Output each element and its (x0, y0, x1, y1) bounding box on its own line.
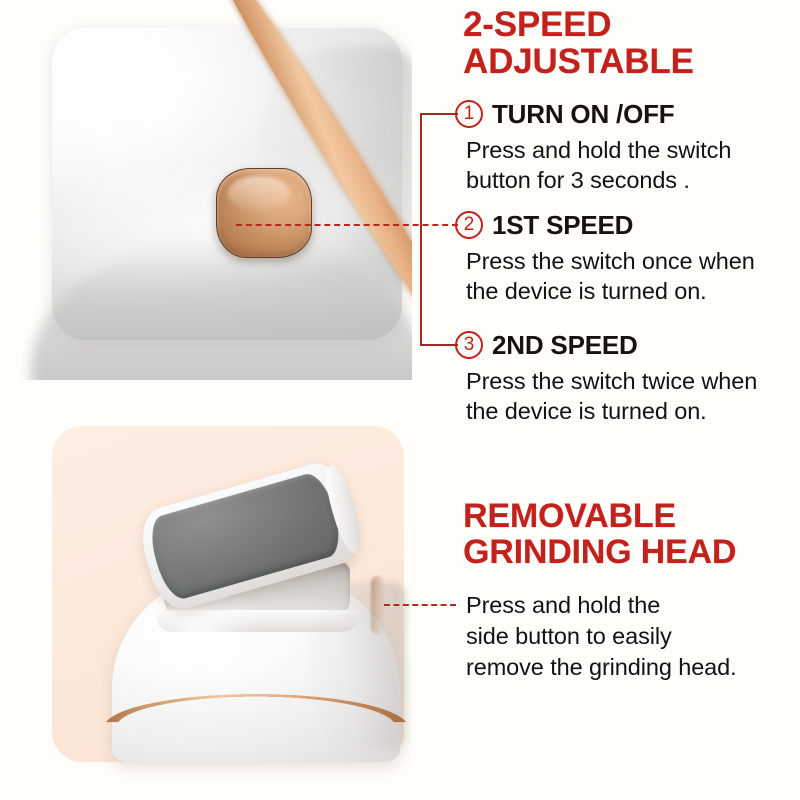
base-right-shadow (308, 582, 406, 751)
step-2-body-line-2: the device is turned on. (466, 276, 800, 306)
step-3-body: Press the switch twice when the device i… (466, 366, 800, 426)
peach-backdrop (52, 426, 404, 762)
step-2-body: Press the switch once when the device is… (466, 246, 800, 306)
step-1st-speed: 2 1ST SPEED Press the switch once when t… (455, 209, 800, 306)
step-2-title: 1ST SPEED (492, 210, 633, 241)
step-3-body-line-1: Press the switch twice when (466, 366, 800, 396)
speed-section-heading: 2-SPEED ADJUSTABLE (463, 6, 793, 80)
callout-leader-grinding-head (384, 604, 456, 606)
grinding-body-line-2: side button to easily (466, 621, 796, 652)
step-1-body-line-1: Press and hold the switch (466, 135, 800, 165)
grinding-body-line-3: remove the grinding head. (466, 652, 796, 683)
step-2-body-line-1: Press the switch once when (466, 246, 800, 276)
grinding-heading-line-1: REMOVABLE (463, 498, 798, 534)
grinding-head-section-heading: REMOVABLE GRINDING HEAD (463, 498, 798, 570)
step-2-title-row: 2 1ST SPEED (455, 209, 800, 241)
grinding-heading-line-2: GRINDING HEAD (463, 534, 798, 570)
step-2nd-speed: 3 2ND SPEED Press the switch twice when … (455, 329, 800, 426)
callout-stub-step-3 (420, 344, 458, 346)
product-image-grinding-head (0, 404, 412, 800)
grinding-body-line-1: Press and hold the (466, 590, 796, 621)
callout-stub-step-1 (420, 113, 458, 115)
step-2-number-badge: 2 (455, 211, 483, 239)
callout-bracket-line (420, 114, 422, 346)
device-base-shell (112, 566, 400, 762)
step-3-title-row: 3 2ND SPEED (455, 329, 800, 361)
callout-leader-power-button (236, 224, 458, 226)
step-1-number-badge: 1 (455, 100, 483, 128)
step-1-body-line-2: button for 3 seconds . (466, 165, 800, 195)
step-1-body: Press and hold the switch button for 3 s… (466, 135, 800, 195)
step-3-body-line-2: the device is turned on. (466, 396, 800, 426)
step-1-title-row: 1 TURN ON /OFF (455, 98, 800, 130)
step-3-number-badge: 3 (455, 331, 483, 359)
power-button (216, 168, 312, 258)
side-release-button (371, 576, 384, 634)
step-3-title: 2ND SPEED (492, 330, 638, 361)
grinding-head-body: Press and hold the side button to easily… (466, 590, 796, 683)
product-infographic: 2-SPEED ADJUSTABLE 1 TURN ON /OFF Press … (0, 0, 800, 800)
device-body (52, 28, 402, 340)
speed-heading-line-1: 2-SPEED (463, 6, 793, 43)
step-turn-on-off: 1 TURN ON /OFF Press and hold the switch… (455, 98, 800, 195)
speed-heading-line-2: ADJUSTABLE (463, 43, 793, 80)
power-button-gloss (228, 176, 290, 211)
step-1-title: TURN ON /OFF (492, 99, 674, 130)
product-image-power-button (0, 0, 412, 380)
